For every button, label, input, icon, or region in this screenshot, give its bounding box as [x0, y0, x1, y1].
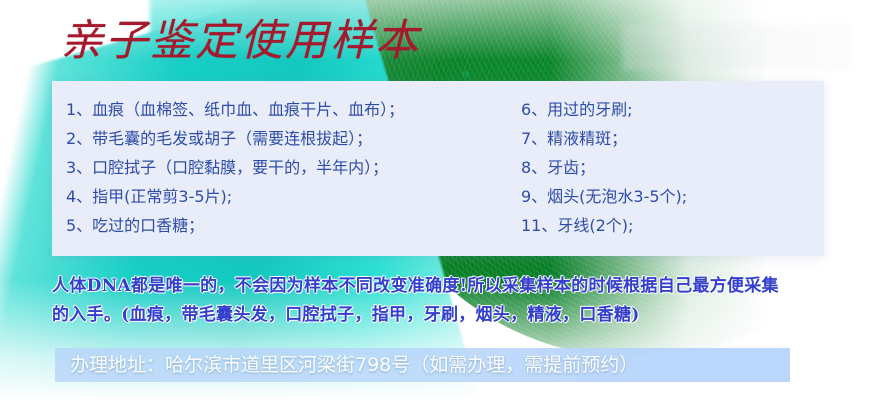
- list-item: 4、指甲(正常剪3-5片);: [66, 182, 521, 211]
- sample-list-panel: 1、血痕（血棉签、纸巾血、血痕干片、血布）； 2、带毛囊的毛发或胡子（需要连根拔…: [52, 81, 824, 256]
- list-item: 7、精液精斑；: [521, 124, 821, 153]
- sample-list-right-column: 6、用过的牙刷; 7、精液精斑； 8、牙齿； 9、烟头(无泡水3-5个); 11…: [521, 81, 821, 256]
- dna-note-paragraph: 人体DNA都是唯一的，不会因为样本不同改变准确度!所以采集样本的时候根据自己最方…: [52, 272, 852, 330]
- list-item: 9、烟头(无泡水3-5个);: [521, 182, 821, 211]
- page-title: 亲子鉴定使用样本: [60, 14, 420, 68]
- list-item: 1、血痕（血棉签、纸巾血、血痕干片、血布）；: [66, 95, 521, 124]
- list-item: 6、用过的牙刷;: [521, 95, 821, 124]
- sample-list-columns: 1、血痕（血棉签、纸巾血、血痕干片、血布）； 2、带毛囊的毛发或胡子（需要连根拔…: [52, 81, 824, 256]
- list-item: 5、吃过的口香糖；: [66, 211, 521, 240]
- address-text: 办理地址：哈尔滨市道里区河梁街798号（如需办理，需提前预约）: [70, 350, 850, 380]
- list-item: 3、口腔拭子（口腔黏膜，要干的，半年内）；: [66, 153, 521, 182]
- background-watermark: [622, 24, 852, 70]
- dna-note-line-2: 的入手。(血痕，带毛囊头发，口腔拭子，指甲，牙刷，烟头，精液，口香糖): [52, 301, 852, 330]
- dna-note-line-1: 人体DNA都是唯一的，不会因为样本不同改变准确度!所以采集样本的时候根据自己最方…: [52, 272, 852, 301]
- poster-canvas: 亲子鉴定使用样本 1、血痕（血棉签、纸巾血、血痕干片、血布）； 2、带毛囊的毛发…: [0, 0, 880, 400]
- list-item: 2、带毛囊的毛发或胡子（需要连根拔起）；: [66, 124, 521, 153]
- list-item: 11、牙线(2个);: [521, 211, 821, 240]
- list-item: 8、牙齿；: [521, 153, 821, 182]
- sample-list-left-column: 1、血痕（血棉签、纸巾血、血痕干片、血布）； 2、带毛囊的毛发或胡子（需要连根拔…: [52, 81, 521, 256]
